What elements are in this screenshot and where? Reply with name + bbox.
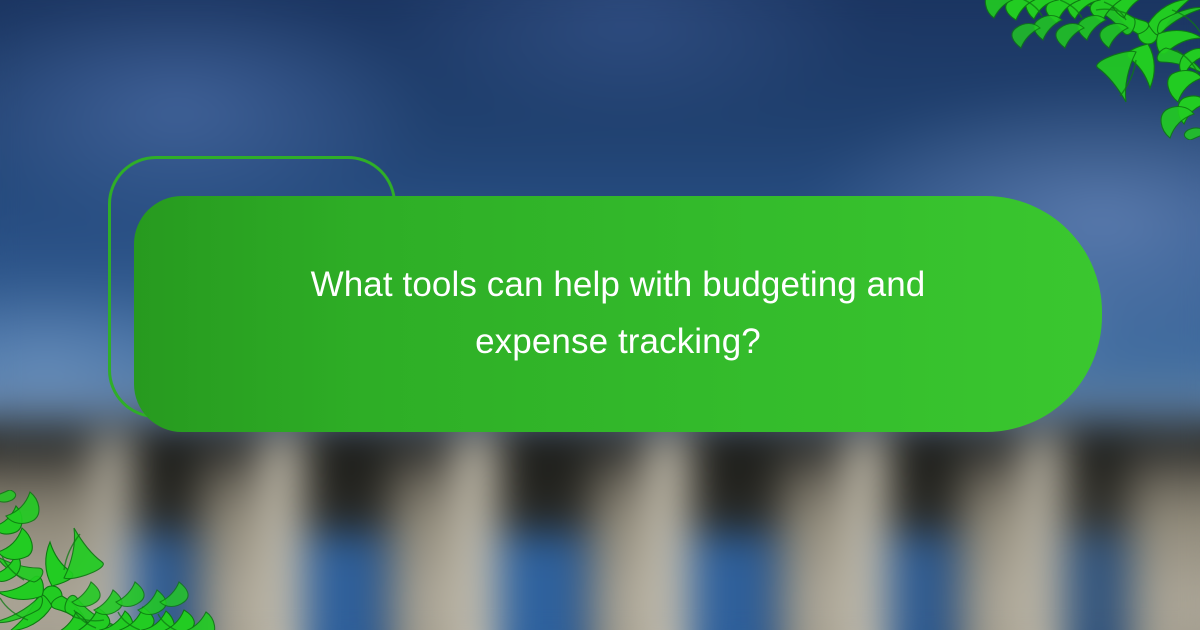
question-title: What tools can help with budgeting and e… — [268, 257, 968, 370]
question-card: What tools can help with budgeting and e… — [134, 196, 1102, 432]
poster-canvas: What tools can help with budgeting and e… — [0, 0, 1200, 630]
